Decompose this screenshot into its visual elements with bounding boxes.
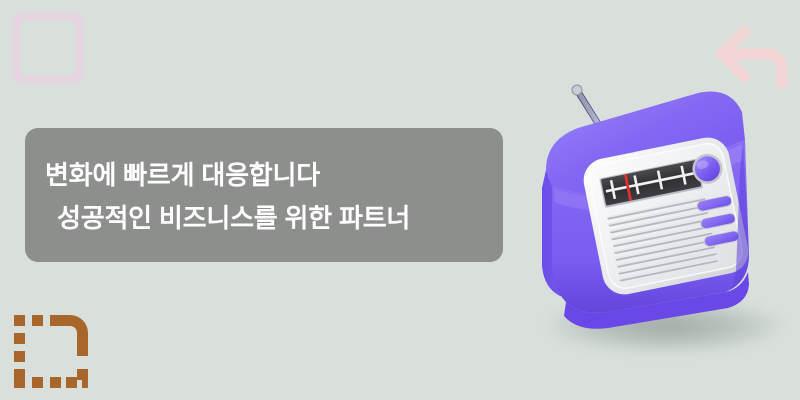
radio-illustration (530, 20, 800, 360)
headline-line-1: 변화에 빠르게 대응합니다 (25, 155, 523, 192)
rounded-square-outline-icon (13, 13, 83, 83)
banner-canvas: 변화에 빠르게 대응합니다 성공적인 비즈니스를 위한 파트너 (0, 0, 800, 400)
headline-line-2: 성공적인 비즈니스를 위한 파트너 (25, 198, 535, 235)
dashed-square-outline-icon (8, 308, 94, 394)
radio-faceplate (580, 134, 753, 299)
headline-plate: 변화에 빠르게 대응합니다 성공적인 비즈니스를 위한 파트너 (25, 128, 503, 262)
